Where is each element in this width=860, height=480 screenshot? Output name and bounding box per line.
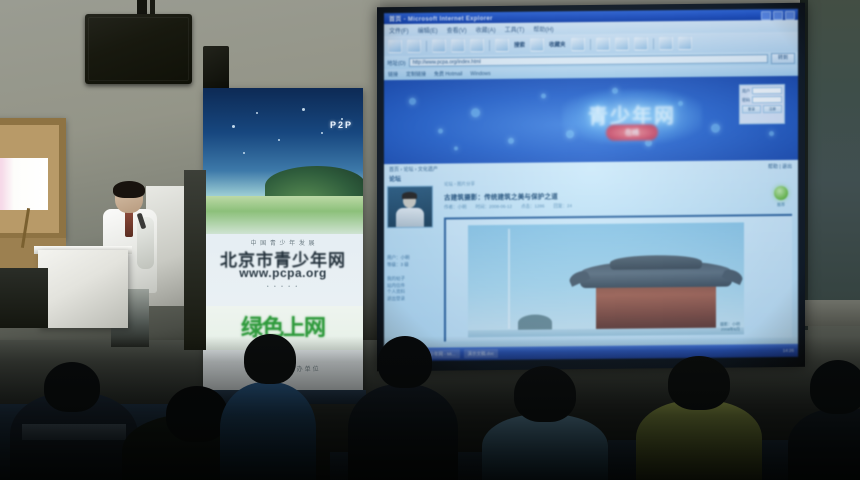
- back-icon[interactable]: [388, 39, 402, 53]
- wall-column-shadow: [184, 170, 206, 350]
- register-button[interactable]: 注册: [763, 105, 782, 113]
- audience-member: [220, 382, 316, 480]
- site-logo-badge: 在线: [606, 124, 658, 141]
- print-icon[interactable]: [615, 37, 629, 51]
- avatar-hair: [402, 192, 417, 199]
- banner-tiny-line: • • • • •: [203, 284, 363, 290]
- photo-roof-upper: [610, 255, 702, 270]
- recommend-icon: [774, 186, 788, 200]
- bulletin-poster: [0, 158, 48, 210]
- thread-author: 作者：小明: [444, 204, 467, 210]
- wall-speaker: [203, 46, 229, 90]
- search-icon[interactable]: [495, 38, 509, 52]
- address-label: 地址(D): [387, 58, 406, 66]
- login-box[interactable]: 用户 密码 登录 注册: [739, 84, 785, 124]
- toolbar-separator: [489, 40, 490, 51]
- home-icon[interactable]: [470, 38, 484, 52]
- taskbar-clock[interactable]: 14:26: [783, 348, 794, 353]
- recommend-label: 推荐: [770, 202, 792, 208]
- board-ledge: [800, 300, 860, 326]
- favorites-label[interactable]: 收藏夹: [549, 40, 566, 48]
- presenter-hair: [113, 181, 145, 198]
- thread-meta: 作者：小明 时间：2008-06-12 点击：1286 回复：24: [444, 201, 794, 211]
- sidebar-item-logout[interactable]: 退出登录: [387, 295, 439, 302]
- photo-caption-date: 2008年6月: [720, 326, 740, 331]
- links-label: 链接: [388, 71, 398, 78]
- thread-views: 点击：1286: [521, 203, 545, 209]
- toolbar-separator: [653, 38, 654, 49]
- go-button[interactable]: 转到: [771, 53, 795, 64]
- messenger-icon[interactable]: [659, 36, 673, 50]
- menu-view[interactable]: 查看(V): [447, 25, 467, 34]
- refresh-icon[interactable]: [451, 38, 465, 52]
- favorites-icon[interactable]: [530, 37, 544, 51]
- presenter-tie: [125, 211, 133, 237]
- menu-favorites[interactable]: 收藏(A): [476, 24, 496, 33]
- sidebar-userlevel: 等级：3 级: [387, 261, 439, 269]
- login-pass-label: 密码: [742, 97, 750, 103]
- login-user-row[interactable]: 用户: [742, 87, 782, 94]
- projection-screen[interactable]: 首页 - Microsoft Internet Explorer 文件(F) 编…: [384, 9, 798, 361]
- thread-date: 时间：2008-06-12: [476, 204, 513, 210]
- login-pass-input[interactable]: [752, 96, 782, 103]
- page-main: 论坛 › 图片分享 古建筑摄影：传统建筑之美与保护之道 作者：小明 时间：200…: [444, 178, 794, 344]
- audience-member: [348, 384, 458, 480]
- audience-head: [378, 336, 432, 388]
- sidebar-links[interactable]: 我的帖子 站内信件 个人资料 退出登录: [387, 276, 439, 303]
- thread-title[interactable]: 古建筑摄影：传统建筑之美与保护之道: [444, 188, 794, 202]
- photo-ground: [468, 327, 744, 337]
- edit-icon[interactable]: [634, 36, 648, 50]
- page-nav-right[interactable]: 帮助 | 退出: [768, 163, 792, 170]
- login-pass-row[interactable]: 密码: [742, 96, 782, 103]
- audience-head: [44, 362, 100, 412]
- podium: [38, 250, 128, 328]
- front-desk-left: [0, 268, 48, 328]
- page-body: 首页 › 论坛 › 文化遗产 论坛 帮助 | 退出 用户：小明 等级：3 级 我…: [384, 160, 798, 348]
- toolbar-separator: [590, 39, 591, 50]
- login-button[interactable]: 登录: [742, 105, 761, 113]
- close-button[interactable]: [785, 10, 795, 19]
- sidebar-user-meta: 用户：小明 等级：3 级: [387, 254, 439, 269]
- avatar[interactable]: [387, 186, 433, 228]
- breadcrumb[interactable]: 首页 › 论坛 › 文化遗产: [389, 166, 438, 174]
- banner-url: www.pcpa.org: [203, 266, 363, 280]
- page-sidebar: 用户：小明 等级：3 级 我的帖子 站内信件 个人资料 退出登录: [387, 186, 439, 345]
- menu-tools[interactable]: 工具(T): [505, 24, 525, 33]
- minimize-button[interactable]: [761, 11, 771, 20]
- history-icon[interactable]: [571, 37, 585, 51]
- audience-member: [636, 400, 762, 480]
- browser-title: 首页 - Microsoft Internet Explorer: [389, 13, 493, 23]
- side-board: [806, 0, 860, 300]
- link-windows[interactable]: Windows: [470, 71, 490, 77]
- link-hotmail[interactable]: 免费 Hotmail: [434, 70, 462, 77]
- login-user-label: 用户: [742, 88, 750, 94]
- login-buttons[interactable]: 登录 注册: [742, 105, 782, 113]
- page-title: 论坛: [389, 174, 401, 183]
- link-customize[interactable]: 定制链接: [406, 71, 426, 78]
- search-label[interactable]: 搜索: [514, 41, 525, 49]
- mail-icon[interactable]: [596, 37, 610, 51]
- menu-edit[interactable]: 编辑(E): [418, 25, 438, 34]
- site-logo-badge-label: 在线: [606, 127, 658, 138]
- audience-head: [810, 360, 860, 414]
- media-icon[interactable]: [678, 36, 692, 50]
- audience-head: [514, 366, 576, 422]
- avatar-body: [396, 208, 424, 228]
- menu-file[interactable]: 文件(F): [389, 25, 409, 34]
- photo-pole: [508, 229, 510, 329]
- photo-caption: 摄影：小明 2008年6月: [720, 321, 740, 331]
- banner-grass-art: [203, 196, 363, 234]
- maximize-button[interactable]: [773, 10, 783, 19]
- thread-replies: 回复：24: [554, 203, 573, 209]
- audience-member: [482, 414, 608, 480]
- address-value: http://www.pcpa.org/index.html: [413, 59, 481, 66]
- audience-head: [668, 356, 730, 410]
- banner-brand-mark: P2P: [330, 120, 353, 130]
- audience-head: [244, 334, 296, 384]
- login-user-input[interactable]: [752, 87, 782, 94]
- audience-head: [166, 386, 228, 442]
- lecture-hall-scene: P2P 中 国 青 少 年 发 展 北京市青少年网 www.pcpa.org •…: [0, 0, 860, 480]
- photo-trees: [518, 314, 552, 330]
- ceiling-projector: [85, 14, 192, 84]
- site-banner: 青少年网 在线 用户 密码 登录 注册: [384, 76, 798, 164]
- recommend-badge[interactable]: 推荐: [770, 186, 792, 208]
- post-photo[interactable]: 摄影：小明 2008年6月: [468, 222, 744, 337]
- taskbar-item-document[interactable]: 演示文稿.doc: [464, 349, 499, 358]
- thread-path[interactable]: 论坛 › 图片分享: [444, 178, 794, 188]
- post-body: 摄影：小明 2008年6月: [444, 214, 792, 342]
- menu-help[interactable]: 帮助(H): [533, 24, 553, 33]
- audience-collar: [22, 424, 126, 440]
- toolbar-separator: [426, 40, 427, 51]
- forward-icon[interactable]: [407, 39, 421, 53]
- stop-icon[interactable]: [432, 39, 446, 53]
- window-controls[interactable]: [761, 10, 795, 19]
